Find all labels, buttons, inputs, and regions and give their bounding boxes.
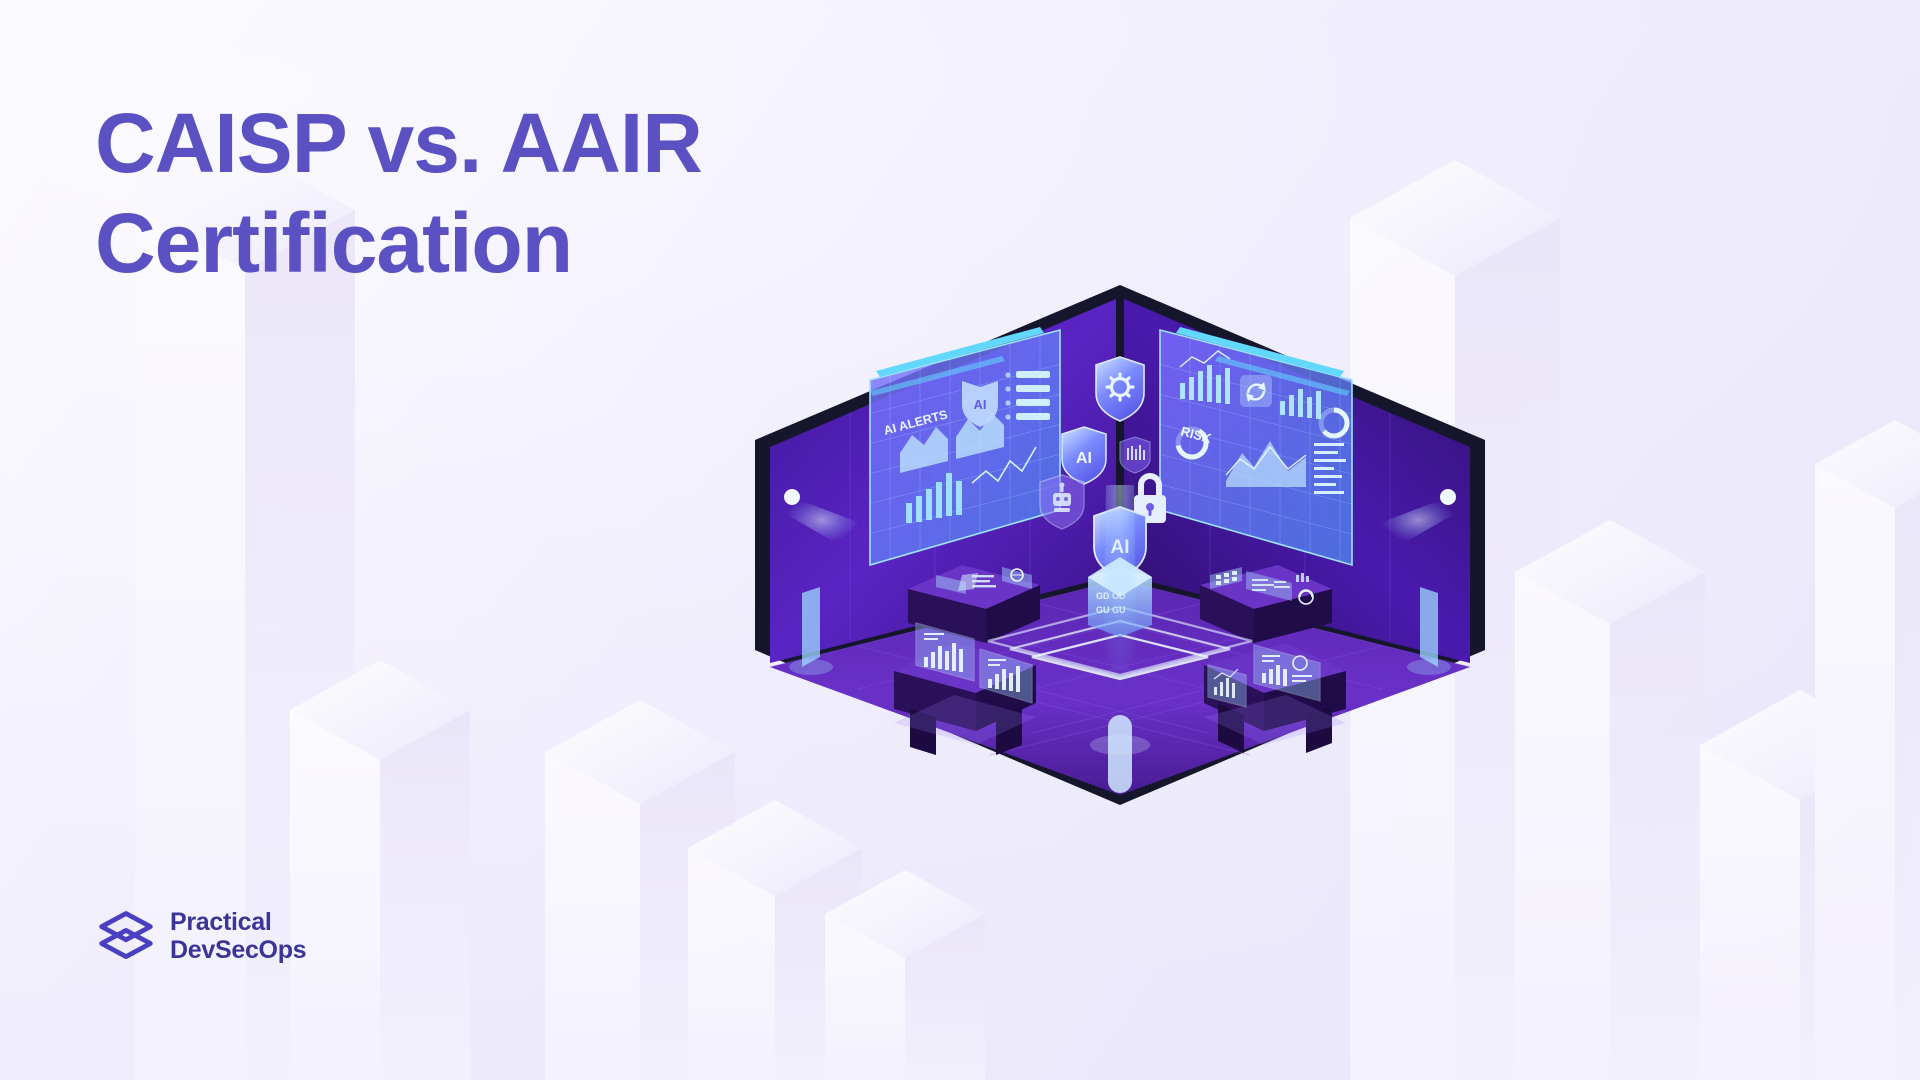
isometric-room-illustration: AI AI ALERTS [740, 275, 1500, 820]
page-title: CAISP vs. AAIR Certification [95, 94, 855, 294]
page-title-line-1: CAISP vs. AAIR [95, 96, 702, 190]
server-rack-badge [1120, 437, 1150, 473]
brand-logo-text: Practical DevSecOps [170, 908, 306, 964]
brand-logo-line-2: DevSecOps [170, 936, 306, 964]
svg-text:AI: AI [974, 397, 987, 412]
shield-gear-badge[interactable] [1096, 357, 1144, 421]
shield-ai-upper-label: AI [1076, 450, 1092, 467]
isometric-room-svg: AI AI ALERTS [740, 275, 1500, 820]
shield-ai-badge-upper[interactable]: AI [1062, 427, 1106, 484]
brand-logo-line-1: Practical [170, 908, 306, 936]
brand-logo[interactable]: Practical DevSecOps [96, 906, 306, 966]
sync-icon [1240, 375, 1272, 407]
stacked-diamonds-icon [96, 906, 156, 966]
